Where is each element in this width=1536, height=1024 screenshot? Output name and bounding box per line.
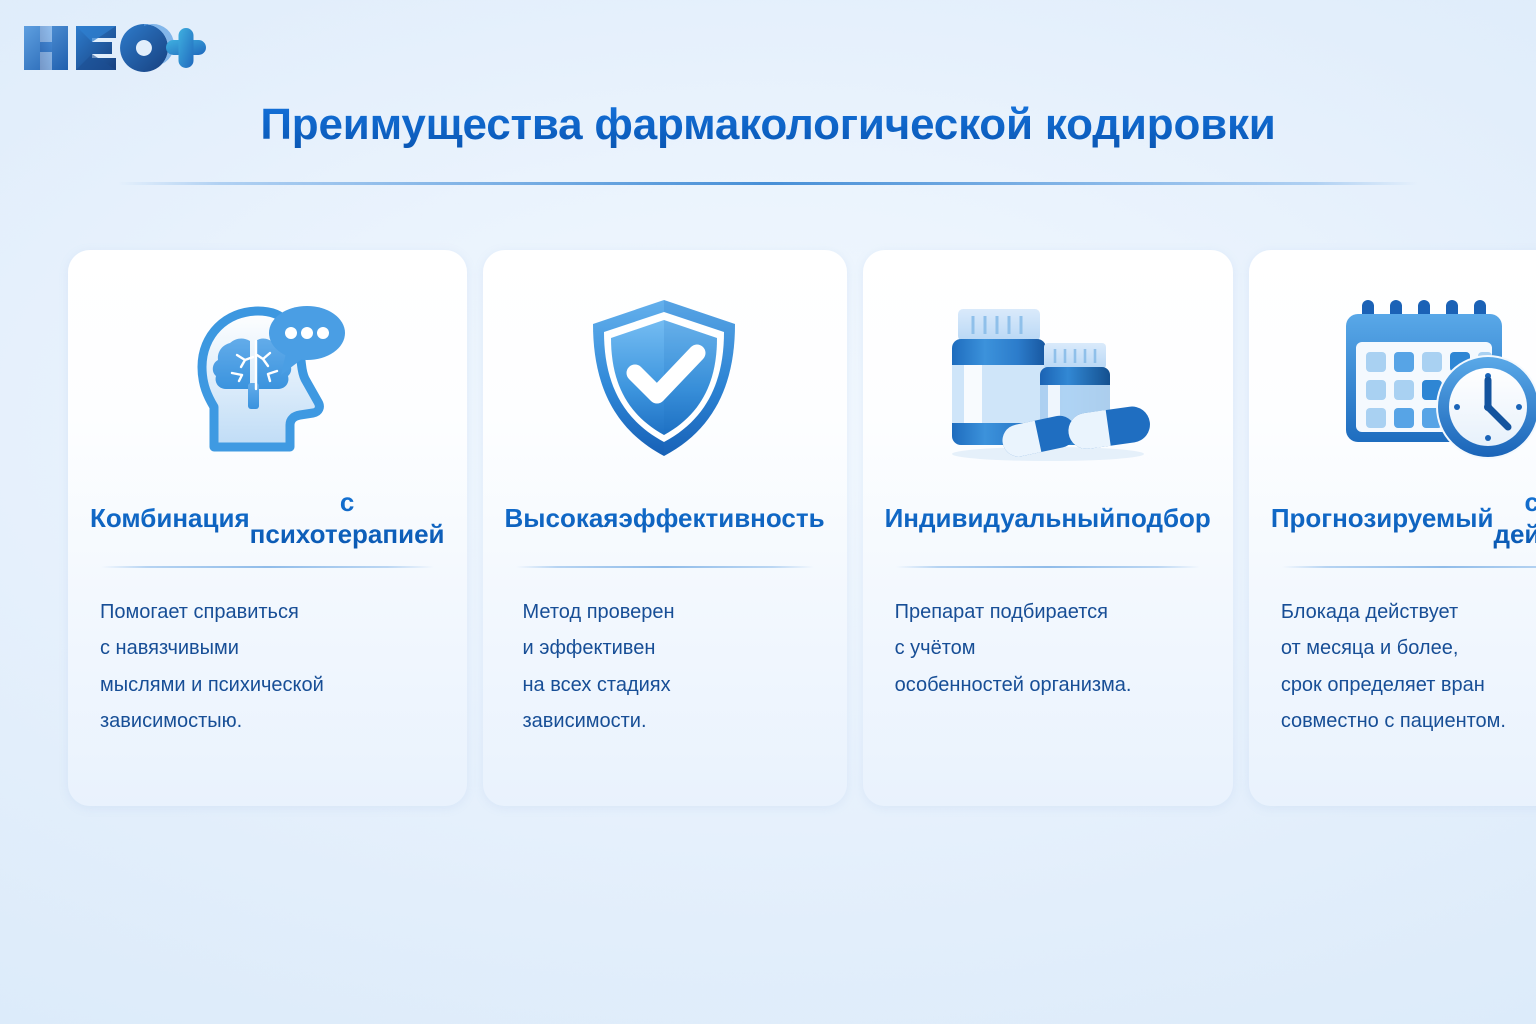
benefit-card-individual-selection[interactable]: Индивидуальныйподбор Препарат подбираетс… [863, 250, 1233, 806]
shield-check-icon [587, 294, 742, 464]
page-title: Преимущества фармакологической кодировки [0, 100, 1536, 149]
card-icon-slot [86, 284, 449, 474]
card-body: Метод проверени эффективенна всех стадия… [501, 594, 829, 740]
card-icon-slot [881, 284, 1215, 474]
benefit-card-combination[interactable]: Комбинацияс психотерапией Помогает справ… [68, 250, 467, 806]
card-body: Помогает справитьсяс навязчивымимыслями … [86, 594, 449, 740]
card-divider [101, 566, 434, 568]
head-brain-speech-icon [182, 297, 352, 462]
card-divider [896, 566, 1200, 568]
card-divider [1282, 566, 1536, 568]
card-title: Индивидуальныйподбор [881, 482, 1215, 554]
card-icon-slot [1267, 284, 1536, 474]
card-title: Комбинацияс психотерапией [86, 482, 449, 554]
brand-logo[interactable] [18, 18, 208, 78]
page-title-block: Преимущества фармакологической кодировки [0, 100, 1536, 149]
calendar-clock-icon [1340, 294, 1536, 464]
benefit-card-predictable-duration[interactable]: Прогнозируемыйсрок действия Блокада дейс… [1249, 250, 1536, 806]
logo-neo-plus-icon [18, 18, 208, 78]
card-title: Прогнозируемыйсрок действия [1267, 482, 1536, 554]
card-divider [516, 566, 814, 568]
card-icon-slot [501, 284, 829, 474]
card-body: Блокада действуетот месяца и более,срок … [1267, 594, 1536, 740]
benefit-card-effectiveness[interactable]: Высокаяэффективность Метод проверени эфф… [483, 250, 847, 806]
card-title: Высокаяэффективность [501, 482, 829, 554]
pill-bottles-icon [940, 297, 1155, 462]
title-divider [118, 182, 1418, 185]
benefits-card-row: Комбинацияс психотерапией Помогает справ… [68, 250, 1468, 806]
card-body: Препарат подбираетсяс учётомособенностей… [881, 594, 1215, 703]
